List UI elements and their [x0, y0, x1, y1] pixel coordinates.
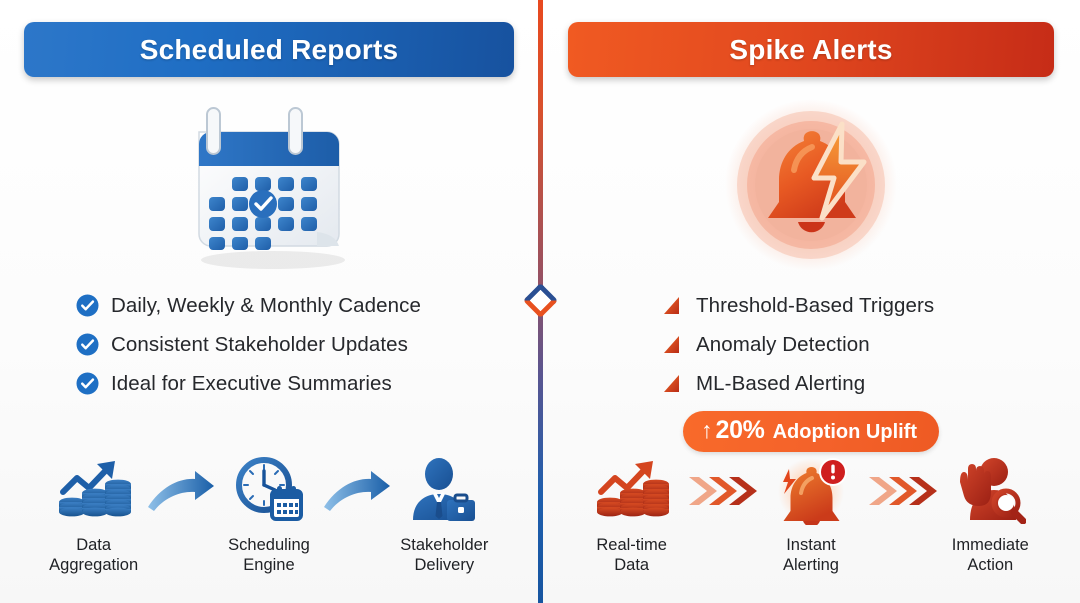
person-hand-magnifier-icon — [954, 456, 1026, 526]
check-circle-icon — [75, 372, 99, 396]
status-badge: ↑ 20% Adoption Uplift — [683, 411, 939, 452]
curved-arrow-icon — [145, 456, 217, 526]
flow-step-label: Stakeholder Delivery — [400, 535, 488, 575]
feature-label: Anomaly Detection — [696, 333, 870, 357]
flow-step: Immediate Action — [937, 456, 1044, 575]
right-feature-list: Threshold-Based Triggers Anomaly Detecti… — [542, 286, 1080, 403]
clock-calendar-icon — [234, 456, 304, 526]
badge-text: Adoption Uplift — [773, 422, 917, 442]
list-item: Threshold-Based Triggers — [660, 286, 1080, 325]
flow-step: Instant Alerting — [757, 456, 864, 575]
left-panel-header: Scheduled Reports — [24, 22, 514, 77]
bell-lightning-icon — [722, 96, 900, 279]
flow-step: Real-time Data — [578, 456, 685, 575]
list-item: Daily, Weekly & Monthly Cadence — [75, 286, 538, 325]
left-hero-icon-area — [0, 96, 538, 274]
check-circle-icon — [75, 333, 99, 357]
left-panel: Scheduled Reports — [0, 0, 538, 603]
right-panel-header: Spike Alerts — [568, 22, 1054, 77]
feature-label: Threshold-Based Triggers — [696, 294, 934, 318]
spike-wedge-icon — [660, 372, 684, 396]
left-feature-list: Daily, Weekly & Monthly Cadence Consiste… — [0, 286, 538, 403]
feature-label: Consistent Stakeholder Updates — [111, 333, 408, 357]
right-panel-title: Spike Alerts — [729, 34, 892, 66]
infographic-canvas: Scheduled Reports — [0, 0, 1080, 603]
left-panel-title: Scheduled Reports — [140, 34, 399, 66]
left-flow-diagram: Data Aggregation — [0, 456, 538, 586]
calendar-check-icon — [181, 96, 357, 279]
businessperson-briefcase-icon — [409, 456, 479, 526]
check-circle-icon — [75, 294, 99, 318]
feature-label: Daily, Weekly & Monthly Cadence — [111, 294, 421, 318]
list-item: ML-Based Alerting — [660, 364, 1080, 403]
up-arrow-icon: ↑ — [701, 419, 713, 442]
right-hero-icon-area — [542, 96, 1080, 274]
curved-arrow-icon — [321, 456, 393, 526]
flow-step-label: Immediate Action — [952, 535, 1029, 575]
list-item: Consistent Stakeholder Updates — [75, 325, 538, 364]
spike-wedge-icon — [660, 333, 684, 357]
badge-value: 20% — [715, 418, 764, 443]
adoption-uplift-badge-area: ↑ 20% Adoption Uplift — [542, 411, 1080, 452]
list-item: Anomaly Detection — [660, 325, 1080, 364]
flow-step: Data Aggregation — [42, 456, 145, 575]
right-flow-diagram: Real-time Data — [542, 456, 1080, 586]
coin-stacks-growth-icon — [55, 456, 133, 526]
flow-step-label: Data Aggregation — [49, 535, 138, 575]
flow-step-label: Instant Alerting — [783, 535, 839, 575]
feature-label: ML-Based Alerting — [696, 372, 865, 396]
flow-step-label: Scheduling Engine — [228, 535, 310, 575]
coin-stacks-growth-red-icon — [593, 456, 671, 526]
flow-step: Stakeholder Delivery — [393, 456, 496, 575]
spike-wedge-icon — [660, 294, 684, 318]
triple-chevron-icon — [865, 456, 937, 526]
right-panel: Spike Alerts — [542, 0, 1080, 603]
feature-label: Ideal for Executive Summaries — [111, 372, 392, 396]
flow-step: Scheduling Engine — [217, 456, 320, 575]
list-item: Ideal for Executive Summaries — [75, 364, 538, 403]
alert-bell-badge-icon — [773, 456, 849, 526]
triple-chevron-icon — [685, 456, 757, 526]
flow-step-label: Real-time Data — [596, 535, 667, 575]
